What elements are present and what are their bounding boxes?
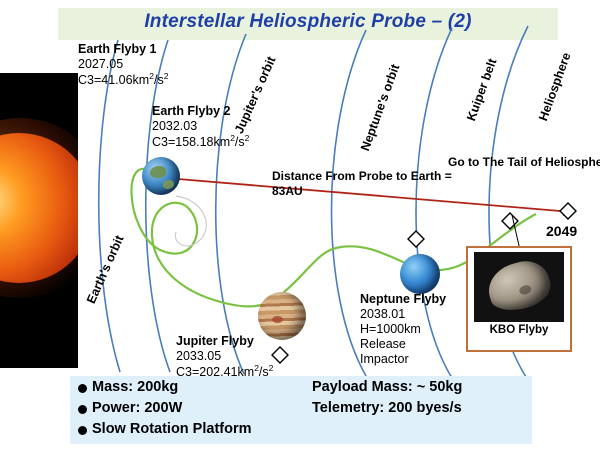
- neptune-flyby-altitude: H=1000km: [360, 322, 421, 336]
- jupiter-flyby-title: Jupiter Flyby: [176, 334, 254, 348]
- kbo-asteroid-body: [483, 255, 555, 316]
- heliosphere-tail-year: 2049: [546, 224, 577, 240]
- jupiter-planet-image: [258, 292, 306, 340]
- neptune-flyby-action-line2: Impactor: [360, 352, 409, 366]
- orbit-arc-inner-extra: [216, 34, 246, 374]
- earth-flyby-1-c3: C3=41.06km2/s2: [78, 72, 168, 87]
- earth-flyby-2-c3-mid: /s: [235, 135, 245, 149]
- heliosphere-tail-label: Go to The Tail of Heliosphere: [448, 156, 600, 169]
- crater-icon: [518, 284, 532, 296]
- earth-landmass-icon: [150, 166, 166, 178]
- marker-jupiter-flyby: [272, 347, 288, 363]
- earth-flyby-2-date: 2032.03: [152, 119, 197, 133]
- earth-flyby-1-title: Earth Flyby 1: [78, 42, 157, 56]
- spec-telemetry: Telemetry: 200 byes/s: [312, 400, 462, 416]
- bullet-icon-mass: [78, 384, 87, 393]
- earth-flyby-1-date: 2027.05: [78, 57, 123, 71]
- earth-flyby-1-c3-value: C3=41.06km: [78, 73, 149, 87]
- marker-heliosphere-tail: [560, 203, 576, 219]
- earth-flyby-2-title: Earth Flyby 2: [152, 104, 231, 118]
- spec-platform: Slow Rotation Platform: [92, 421, 252, 437]
- spec-power: Power: 200W: [92, 400, 182, 416]
- earth-flyby-2-c3-value: C3=158.18km: [152, 135, 230, 149]
- earths-orbit-arc: [99, 40, 120, 372]
- neptune-planet-image: [400, 254, 440, 294]
- crater-icon-2: [540, 289, 549, 297]
- earth-flyby-2-c3: C3=158.18km2/s2: [152, 134, 249, 149]
- kuiper-belt-arc: [416, 28, 452, 378]
- neptune-flyby-date: 2038.01: [360, 307, 405, 321]
- jupiter-flyby-c3-exp-den: 2: [269, 363, 274, 373]
- bullet-icon-power: [78, 405, 87, 414]
- earth-flyby-2-c3-exp-den: 2: [245, 133, 250, 143]
- spec-payload-mass: Payload Mass: ~ 50kg: [312, 379, 462, 395]
- neptune-flyby-action-line1: Release: [360, 337, 406, 351]
- bullet-icon-platform: [78, 426, 87, 435]
- neptune-flyby-title: Neptune Flyby: [360, 292, 446, 306]
- kbo-flyby-caption: KBO Flyby: [466, 324, 572, 336]
- earth-flyby-1-c3-mid: /s: [154, 73, 164, 87]
- slide-canvas: Interstellar Heliospheric Probe – (2): [0, 0, 600, 450]
- jupiter-flyby-date: 2033.05: [176, 349, 221, 363]
- kbo-asteroid-image: [474, 252, 564, 322]
- distance-annotation-line1: Distance From Probe to Earth =: [272, 170, 452, 183]
- jupiter-great-red-spot: [272, 316, 283, 323]
- marker-neptune-flyby: [408, 231, 424, 247]
- distance-annotation-line2: 83AU: [272, 185, 303, 198]
- spec-mass: Mass: 200kg: [92, 379, 178, 395]
- earth-flyby-1-c3-exp-den: 2: [164, 71, 169, 81]
